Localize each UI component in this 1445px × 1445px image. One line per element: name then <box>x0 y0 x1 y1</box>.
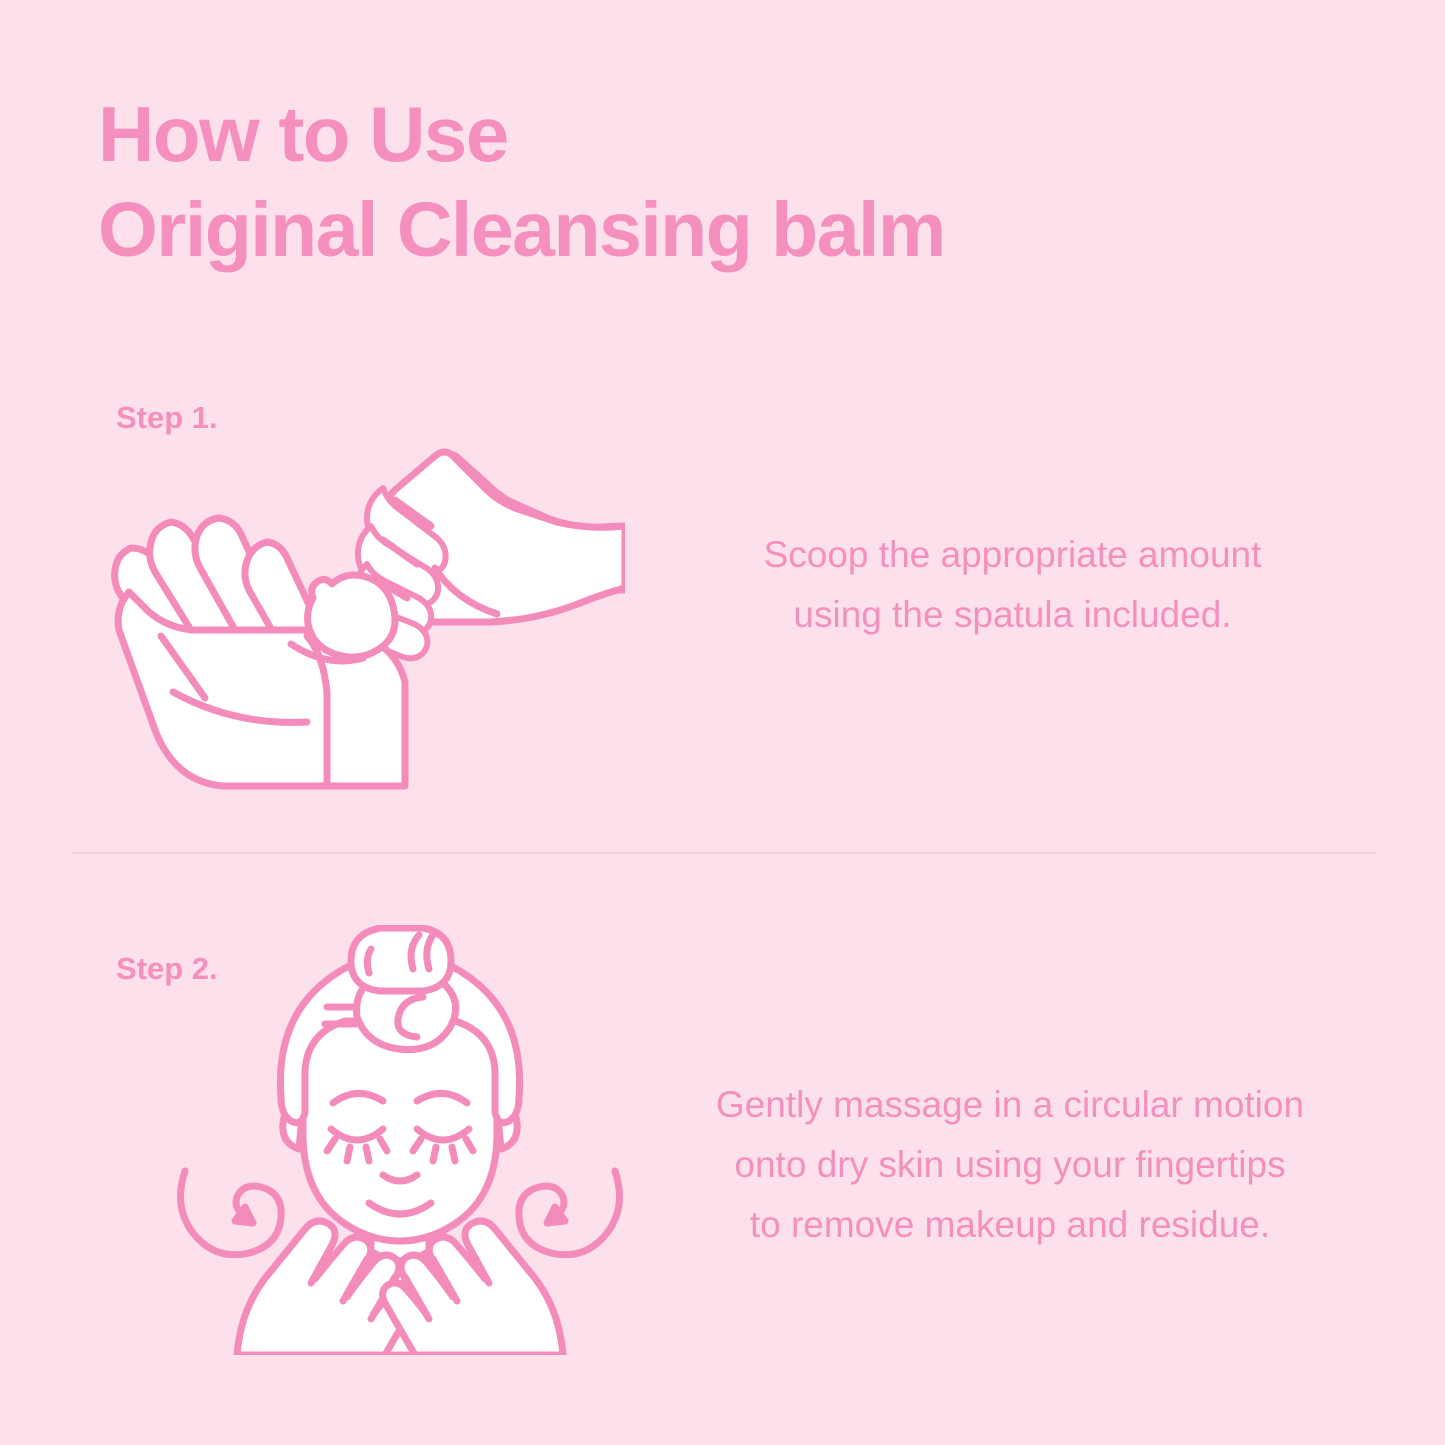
how-to-use-infographic: How to Use Original Cleansing balm Step … <box>0 0 1445 1445</box>
hands-scooping-balm-with-spatula-icon <box>95 430 625 795</box>
step-2-description-line-3: to remove makeup and residue. <box>750 1204 1270 1245</box>
step-2-description: Gently massage in a circular motion onto… <box>655 1075 1365 1255</box>
circular-motion-swirl-left-icon <box>181 1171 282 1255</box>
step-2-description-line-2: onto dry skin using your fingertips <box>734 1144 1285 1185</box>
circular-motion-swirl-right-icon <box>519 1171 620 1255</box>
step-2-description-line-1: Gently massage in a circular motion <box>716 1084 1304 1125</box>
page-title-line-1: How to Use <box>98 86 1198 182</box>
step-1-description-line-2: using the spatula included. <box>793 594 1231 635</box>
step-2-section: Step 2. <box>0 925 1445 1395</box>
page-title-line-2: Original Cleansing balm <box>98 182 1198 278</box>
woman-massaging-face-icon <box>175 925 625 1360</box>
page-title: How to Use Original Cleansing balm <box>98 86 1198 278</box>
section-divider <box>72 852 1375 854</box>
step-1-description: Scoop the appropriate amount using the s… <box>690 525 1335 645</box>
step-1-section: Step 1. <box>0 375 1445 835</box>
step-1-description-line-1: Scoop the appropriate amount <box>764 534 1262 575</box>
